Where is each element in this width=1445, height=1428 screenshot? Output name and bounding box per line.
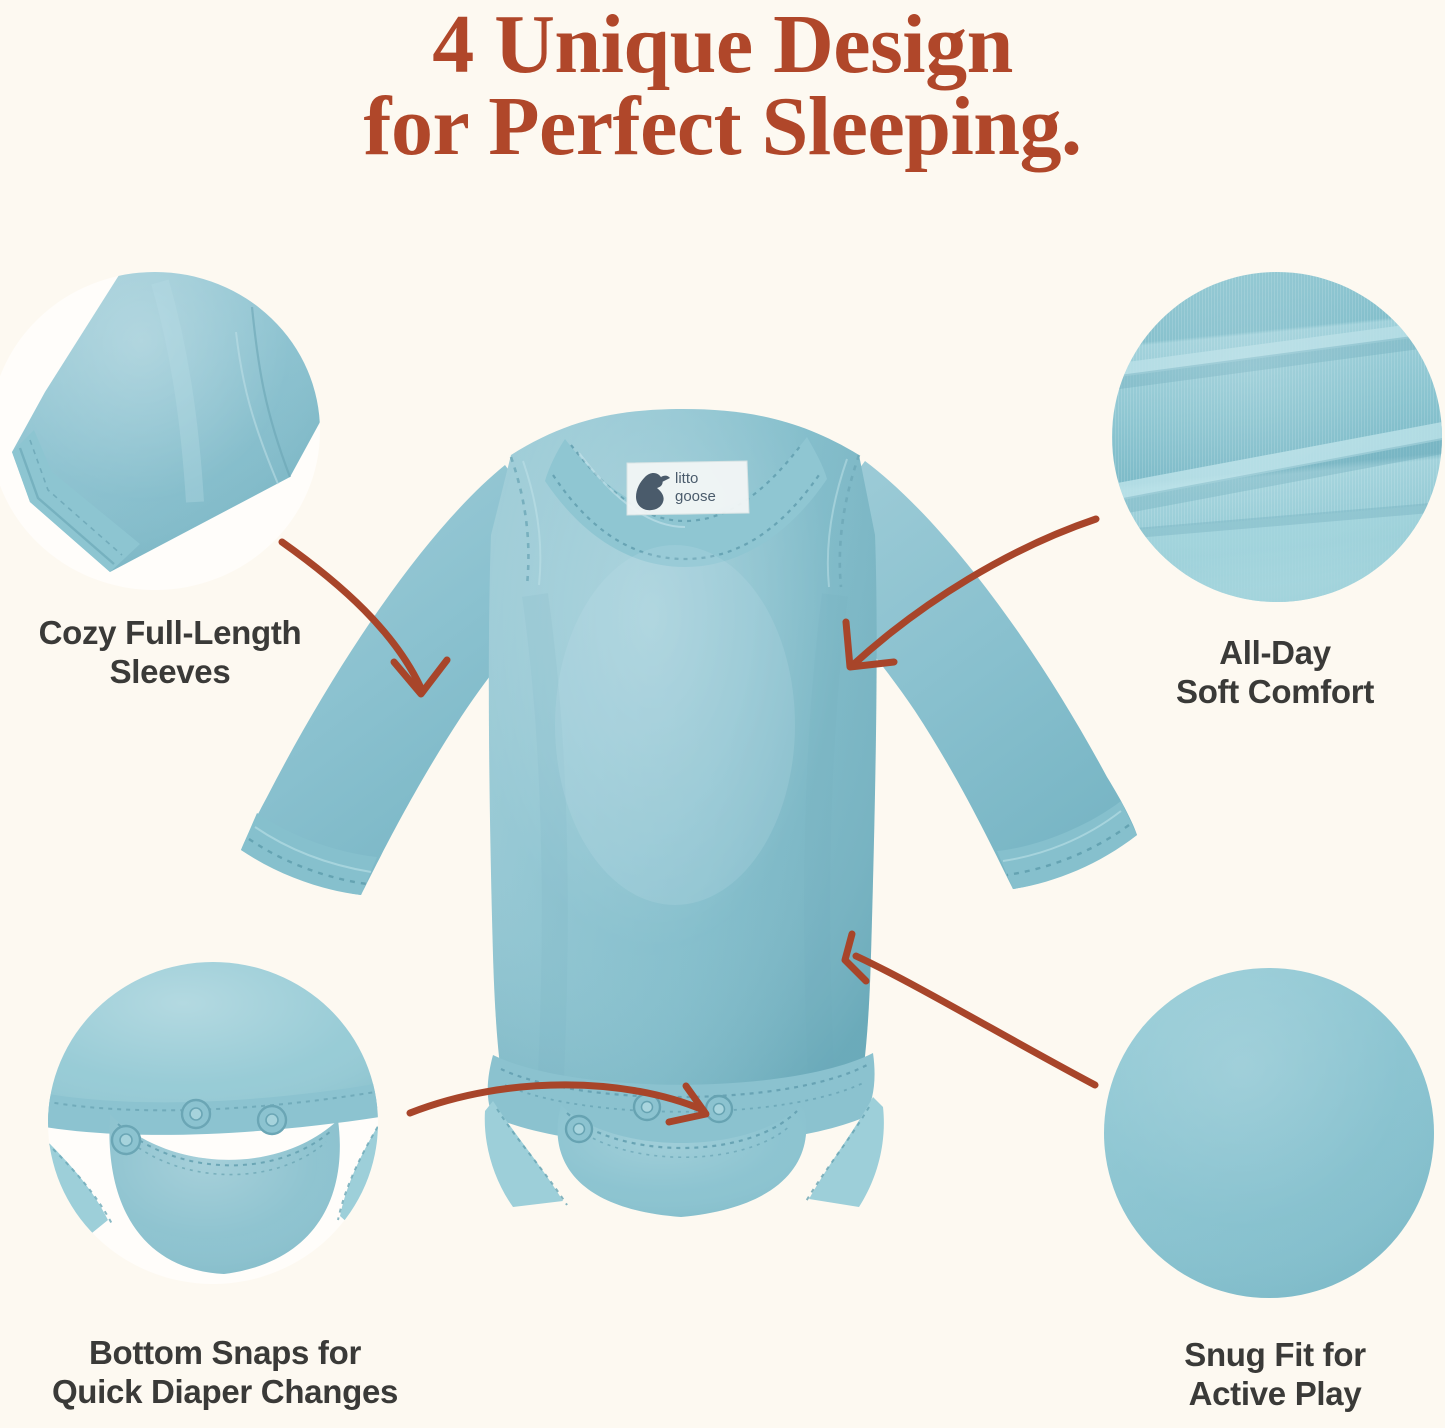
- brand-tag-line-1: litto: [675, 470, 698, 487]
- headline-line-2: for Perfect Sleeping.: [0, 86, 1445, 168]
- product-bodysuit: litto goose: [175, 395, 1185, 1220]
- snap-button: [566, 1116, 592, 1142]
- brand-tag-line-2: goose: [675, 488, 716, 505]
- snap-button: [634, 1094, 660, 1120]
- callout-label-snug-fit: Snug Fit for Active Play: [1105, 1336, 1445, 1414]
- brand-tag: litto goose: [627, 461, 749, 515]
- headline-line-1: 4 Unique Design: [432, 0, 1013, 91]
- page-title: 4 Unique Design for Perfect Sleeping.: [0, 4, 1445, 169]
- bodysuit-illustration: litto goose: [175, 395, 1185, 1220]
- callout-label-cozy-full-length-sleeves: Cozy Full-Length Sleeves: [0, 614, 340, 692]
- callout-label-bottom-snaps: Bottom Snaps for Quick Diaper Changes: [0, 1334, 450, 1412]
- snap-button: [706, 1096, 732, 1122]
- snap-button: [112, 1126, 140, 1154]
- callout-label-all-day-soft-comfort: All-Day Soft Comfort: [1105, 634, 1445, 712]
- infographic-canvas: 4 Unique Design for Perfect Sleeping.: [0, 0, 1445, 1428]
